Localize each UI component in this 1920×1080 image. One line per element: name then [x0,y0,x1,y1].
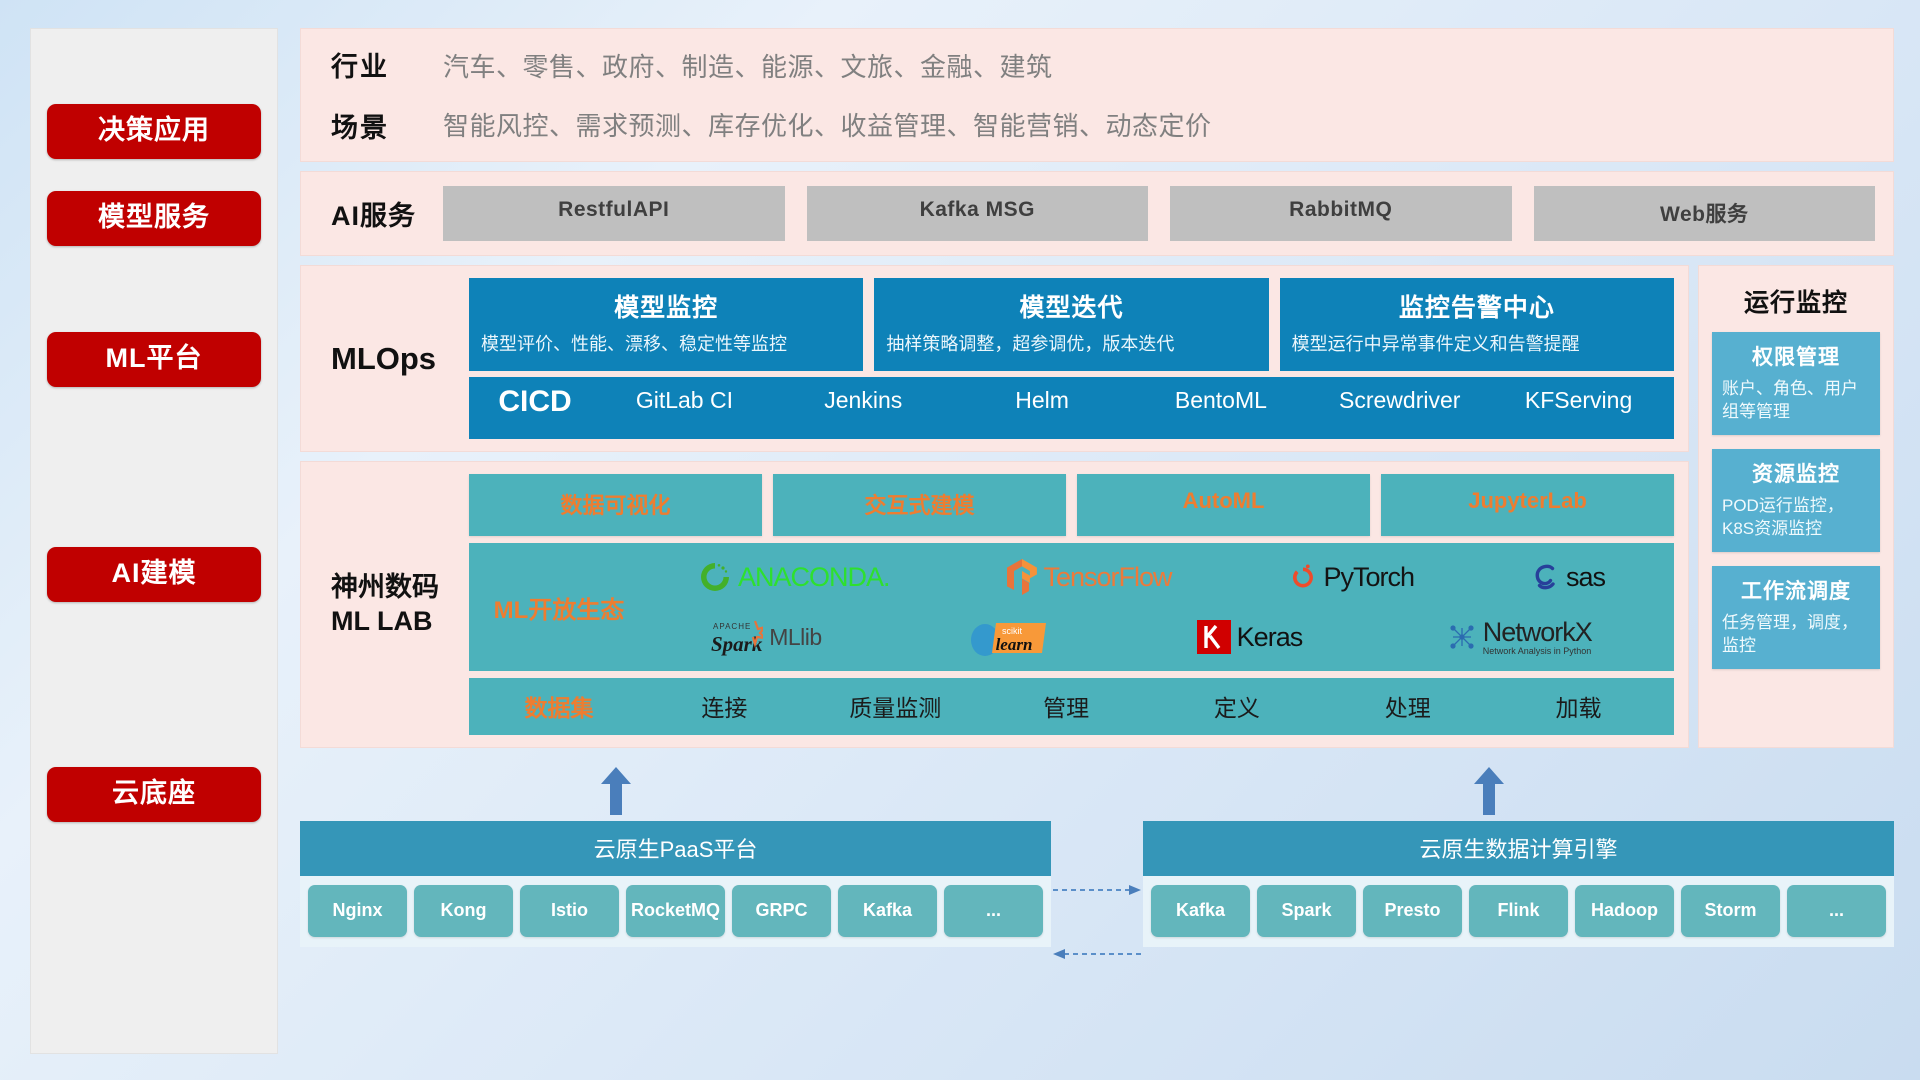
dataset-item-quality[interactable]: 质量监测 [810,689,981,723]
industry-band: 行业 场景 汽车、零售、政府、制造、能源、文旅、金融、建筑 智能风控、需求预测、… [300,28,1894,162]
tool-data-visualization[interactable]: 数据可视化 [469,474,762,536]
engine-chip-presto[interactable]: Presto [1363,885,1462,937]
mlops-card-model-monitor[interactable]: 模型监控 模型评价、性能、漂移、稳定性等监控 [469,278,863,371]
anaconda-icon [698,560,732,594]
keras-wordmark: Keras [1237,622,1303,653]
card-title: 工作流调度 [1722,575,1870,605]
keras-icon [1197,620,1231,654]
tensorflow-wordmark: TensorFlow [1043,562,1171,593]
mllab-label-line2: ML LAB [331,605,439,639]
dataset-strip: 数据集 连接 质量监测 管理 定义 处理 加载 [469,678,1674,735]
tool-automl[interactable]: AutoML [1077,474,1370,536]
monitor-card-workflow[interactable]: 工作流调度 任务管理，调度，监控 [1712,566,1880,669]
tensorflow-logo: TensorFlow [1007,559,1171,595]
middle-area: MLOps 模型监控 模型评价、性能、漂移、稳定性等监控 模型迭代 抽样策略调整… [300,265,1894,748]
industry-value: 汽车、零售、政府、制造、能源、文旅、金融、建筑 [443,47,1212,84]
card-desc: POD运行监控，K8S资源监控 [1722,494,1870,541]
mlops-content: 模型监控 模型评价、性能、漂移、稳定性等监控 模型迭代 抽样策略调整，超参调优，… [469,278,1674,439]
cicd-item-kfserving[interactable]: KFServing [1489,387,1668,413]
engine-chip-hadoop[interactable]: Hadoop [1575,885,1674,937]
card-title: 模型迭代 [886,288,1256,324]
eco-logo-row-2: APACHE Spark MLlib [639,608,1664,666]
layer-rail: 决策应用 模型服务 ML平台 AI建模 云底座 [30,28,278,1054]
networkx-wordmark: NetworkX [1483,619,1592,646]
card-title: 权限管理 [1722,341,1870,371]
cicd-strip: CICD GitLab CI Jenkins Helm BentoML Scre… [469,377,1674,439]
dataset-item-connect[interactable]: 连接 [639,689,810,723]
paas-chip-nginx[interactable]: Nginx [308,885,407,937]
rail-item-cloud-base[interactable]: 云底座 [47,767,261,822]
paas-chip-istio[interactable]: Istio [520,885,619,937]
engine-chip-more[interactable]: ... [1787,885,1886,937]
cloud-base-area: 云原生PaaS平台 Nginx Kong Istio RocketMQ GRPC… [300,757,1894,1054]
tool-interactive-modeling[interactable]: 交互式建模 [773,474,1066,536]
eco-label: ML开放生态 [479,590,639,625]
anaconda-wordmark: ANACONDA. [738,562,890,593]
dataset-item-process[interactable]: 处理 [1322,689,1493,723]
sas-icon [1532,563,1560,591]
runtime-monitor-title: 运行监控 [1712,278,1880,332]
engine-chip-spark[interactable]: Spark [1257,885,1356,937]
card-title: 模型监控 [481,288,851,324]
eco-logo-row-1: ANACONDA. Te [639,548,1664,606]
arrow-right-dashed-icon [1051,884,1143,896]
cicd-item-bentoml[interactable]: BentoML [1131,387,1310,413]
data-engine-chips: Kafka Spark Presto Flink Hadoop Storm ..… [1143,876,1894,947]
rail-item-model-serve[interactable]: 模型服务 [47,191,261,246]
main-column: 行业 场景 汽车、零售、政府、制造、能源、文旅、金融、建筑 智能风控、需求预测、… [300,28,1894,1054]
ai-service-band: AI服务 RestfulAPI Kafka MSG RabbitMQ Web服务 [300,171,1894,256]
middle-left: MLOps 模型监控 模型评价、性能、漂移、稳定性等监控 模型迭代 抽样策略调整… [300,265,1689,748]
arrow-up-data-engine-icon [1473,767,1505,815]
paas-chip-more[interactable]: ... [944,885,1043,937]
mllab-band: 神州数码 ML LAB 数据可视化 交互式建模 AutoML JupyterLa… [300,461,1689,748]
mlops-cards: 模型监控 模型评价、性能、漂移、稳定性等监控 模型迭代 抽样策略调整，超参调优，… [469,278,1674,371]
ai-service-chips: RestfulAPI Kafka MSG RabbitMQ Web服务 [443,186,1875,241]
ai-service-chip-web[interactable]: Web服务 [1534,186,1876,241]
spark-icon: APACHE Spark [711,617,763,657]
sas-wordmark: sas [1566,562,1605,593]
ai-service-label: AI服务 [331,194,443,233]
dataset-label: 数据集 [479,689,639,723]
cicd-items: GitLab CI Jenkins Helm BentoML Screwdriv… [595,387,1668,413]
connector-gap [1051,765,1143,1054]
ai-service-chip-rabbitmq[interactable]: RabbitMQ [1170,186,1512,241]
ai-service-chip-restfulapi[interactable]: RestfulAPI [443,186,785,241]
dataset-items: 连接 质量监测 管理 定义 处理 加载 [639,689,1664,723]
cicd-item-jenkins[interactable]: Jenkins [774,387,953,413]
card-desc: 任务管理，调度，监控 [1722,611,1870,658]
pytorch-wordmark: PyTorch [1323,562,1414,593]
eco-logo-grid: ANACONDA. Te [639,548,1664,666]
scikit-learn-icon: scikit learn [966,615,1052,659]
dataset-item-define[interactable]: 定义 [1151,689,1322,723]
card-title: 监控告警中心 [1292,288,1662,324]
pytorch-icon [1289,561,1317,593]
paas-chip-grpc[interactable]: GRPC [732,885,831,937]
industry-labels: 行业 场景 [331,45,443,145]
paas-column: 云原生PaaS平台 Nginx Kong Istio RocketMQ GRPC… [300,765,1051,1054]
industry-label: 行业 [331,45,443,84]
sas-logo: sas [1532,562,1605,593]
diagram-root: 决策应用 模型服务 ML平台 AI建模 云底座 行业 场景 汽车、零售、政府、制… [0,0,1920,1080]
scikit-learn-logo: scikit learn [966,615,1052,659]
card-desc: 抽样策略调整，超参调优，版本迭代 [886,332,1256,357]
data-engine-column: 云原生数据计算引擎 Kafka Spark Presto Flink Hadoo… [1143,765,1894,1054]
rail-item-decision[interactable]: 决策应用 [47,104,261,159]
rail-item-ml-platform[interactable]: ML平台 [47,332,261,387]
dataset-item-load[interactable]: 加载 [1493,689,1664,723]
data-engine-title: 云原生数据计算引擎 [1143,821,1894,876]
card-desc: 模型运行中异常事件定义和告警提醒 [1292,332,1662,357]
svg-text:learn: learn [996,635,1033,654]
mllab-tools: 数据可视化 交互式建模 AutoML JupyterLab [469,474,1674,536]
engine-chip-storm[interactable]: Storm [1681,885,1780,937]
pytorch-logo: PyTorch [1289,561,1414,593]
mllib-wordmark: MLlib [769,624,821,651]
spark-mllib-logo: APACHE Spark MLlib [711,617,821,657]
runtime-monitor-panel: 运行监控 权限管理 账户、角色、用户组等管理 资源监控 POD运行监控，K8S资… [1698,265,1894,748]
paas-chip-kong[interactable]: Kong [414,885,513,937]
mllab-content: 数据可视化 交互式建模 AutoML JupyterLab ML开放生态 [469,474,1674,735]
engine-chip-flink[interactable]: Flink [1469,885,1568,937]
mlops-card-alert-center[interactable]: 监控告警中心 模型运行中异常事件定义和告警提醒 [1280,278,1674,371]
card-desc: 账户、角色、用户组等管理 [1722,377,1870,424]
card-desc: 模型评价、性能、漂移、稳定性等监控 [481,332,851,357]
networkx-tagline: Network Analysis in Python [1483,646,1592,656]
keras-logo: Keras [1197,620,1303,654]
mllab-label-line1: 神州数码 [331,571,439,605]
mlops-label: MLOps [331,278,469,439]
tool-jupyterlab[interactable]: JupyterLab [1381,474,1674,536]
svg-text:APACHE: APACHE [713,622,751,631]
dataset-item-manage[interactable]: 管理 [981,689,1152,723]
paas-chip-rocketmq[interactable]: RocketMQ [626,885,725,937]
monitor-card-permission[interactable]: 权限管理 账户、角色、用户组等管理 [1712,332,1880,435]
mllab-label: 神州数码 ML LAB [331,474,469,735]
tensorflow-icon [1007,559,1037,595]
scenario-value: 智能风控、需求预测、库存优化、收益管理、智能营销、动态定价 [443,106,1212,143]
paas-title: 云原生PaaS平台 [300,821,1051,876]
card-title: 资源监控 [1722,458,1870,488]
mlops-card-model-iteration[interactable]: 模型迭代 抽样策略调整，超参调优，版本迭代 [874,278,1268,371]
cicd-item-gitlab-ci[interactable]: GitLab CI [595,387,774,413]
cicd-item-helm[interactable]: Helm [953,387,1132,413]
arrow-left-dashed-icon [1051,948,1143,960]
scenario-label: 场景 [331,106,443,145]
paas-chip-kafka[interactable]: Kafka [838,885,937,937]
anaconda-logo: ANACONDA. [698,560,890,594]
data-engine-platform: 云原生数据计算引擎 Kafka Spark Presto Flink Hadoo… [1143,821,1894,947]
cicd-label: CICD [475,387,595,417]
ai-service-chip-kafka-msg[interactable]: Kafka MSG [807,186,1149,241]
paas-platform: 云原生PaaS平台 Nginx Kong Istio RocketMQ GRPC… [300,821,1051,947]
arrow-up-paas-icon [600,767,632,815]
networkx-logo: NetworkX Network Analysis in Python [1447,619,1592,656]
networkx-icon [1447,622,1477,652]
eco-strip: ML开放生态 [469,543,1674,671]
cicd-item-screwdriver[interactable]: Screwdriver [1310,387,1489,413]
monitor-card-resource[interactable]: 资源监控 POD运行监控，K8S资源监控 [1712,449,1880,552]
paas-chips: Nginx Kong Istio RocketMQ GRPC Kafka ... [300,876,1051,947]
engine-chip-kafka[interactable]: Kafka [1151,885,1250,937]
industry-values: 汽车、零售、政府、制造、能源、文旅、金融、建筑 智能风控、需求预测、库存优化、收… [443,47,1212,143]
rail-item-ai-modeling[interactable]: AI建模 [47,547,261,602]
mlops-band: MLOps 模型监控 模型评价、性能、漂移、稳定性等监控 模型迭代 抽样策略调整… [300,265,1689,452]
